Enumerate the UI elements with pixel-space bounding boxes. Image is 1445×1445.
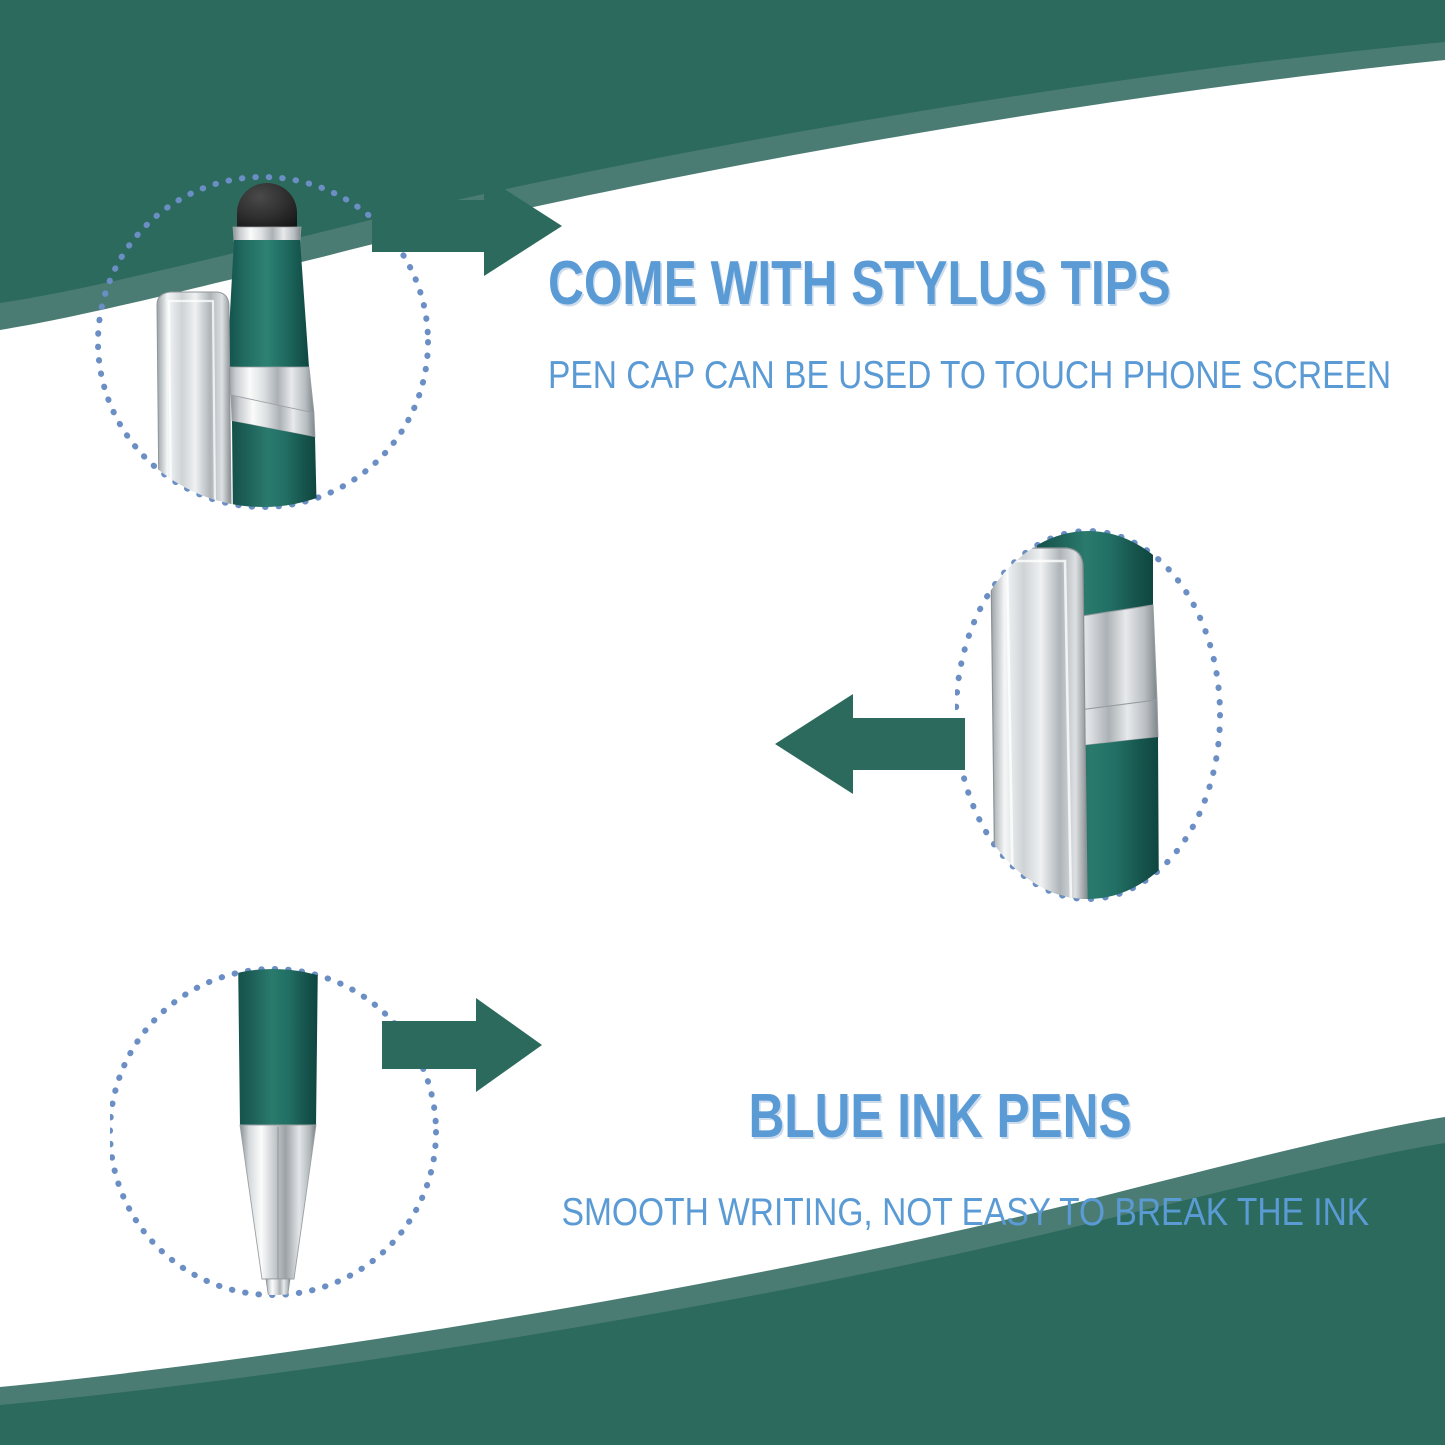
pen-clip-closeup-figure (955, 505, 1225, 925)
ball-point-tip (272, 1307, 284, 1321)
arrow-right-stylus (372, 172, 562, 280)
pen-illustration (238, 945, 318, 1321)
barrel-top-cut (1037, 506, 1153, 524)
text-block-blue-ink: BLUE INK PENS SMOOTH WRITING, NOT EASY T… (500, 1085, 1380, 1235)
product-infographic: COME WITH STYLUS TIPS PEN CAP CAN BE USE… (0, 0, 1445, 1445)
pen-illustration (157, 183, 317, 521)
pen-clip (991, 548, 1087, 916)
arrow-right-blue-ink (382, 995, 542, 1095)
stylus-rubber-tip (237, 183, 297, 229)
feature-subtitle-blue-ink: SMOOTH WRITING, NOT EASY TO BREAK THE IN… (562, 1192, 1319, 1235)
cap-chrome-collar (233, 227, 301, 241)
tip-housing (266, 1279, 290, 1307)
cap-green-body (227, 240, 309, 367)
arrow-left-icon (775, 694, 965, 794)
barrel-green (232, 421, 317, 521)
barrel-open-top (238, 945, 318, 961)
arrow-right-icon (372, 176, 562, 276)
pen-clip (157, 292, 231, 518)
pen-illustration (991, 506, 1159, 917)
feature-title-stylus: COME WITH STYLUS TIPS (548, 252, 1332, 315)
feature-subtitle-stylus: PEN CAP CAN BE USED TO TOUCH PHONE SCREE… (548, 355, 1391, 398)
feature-title-blue-ink: BLUE INK PENS (588, 1085, 1292, 1148)
text-block-stylus: COME WITH STYLUS TIPS PEN CAP CAN BE USE… (548, 252, 1445, 398)
arrow-left-pen-clip (775, 690, 965, 798)
arrow-right-icon (382, 998, 542, 1092)
barrel-green (238, 953, 318, 1127)
barrel-inner-bore (245, 949, 311, 960)
